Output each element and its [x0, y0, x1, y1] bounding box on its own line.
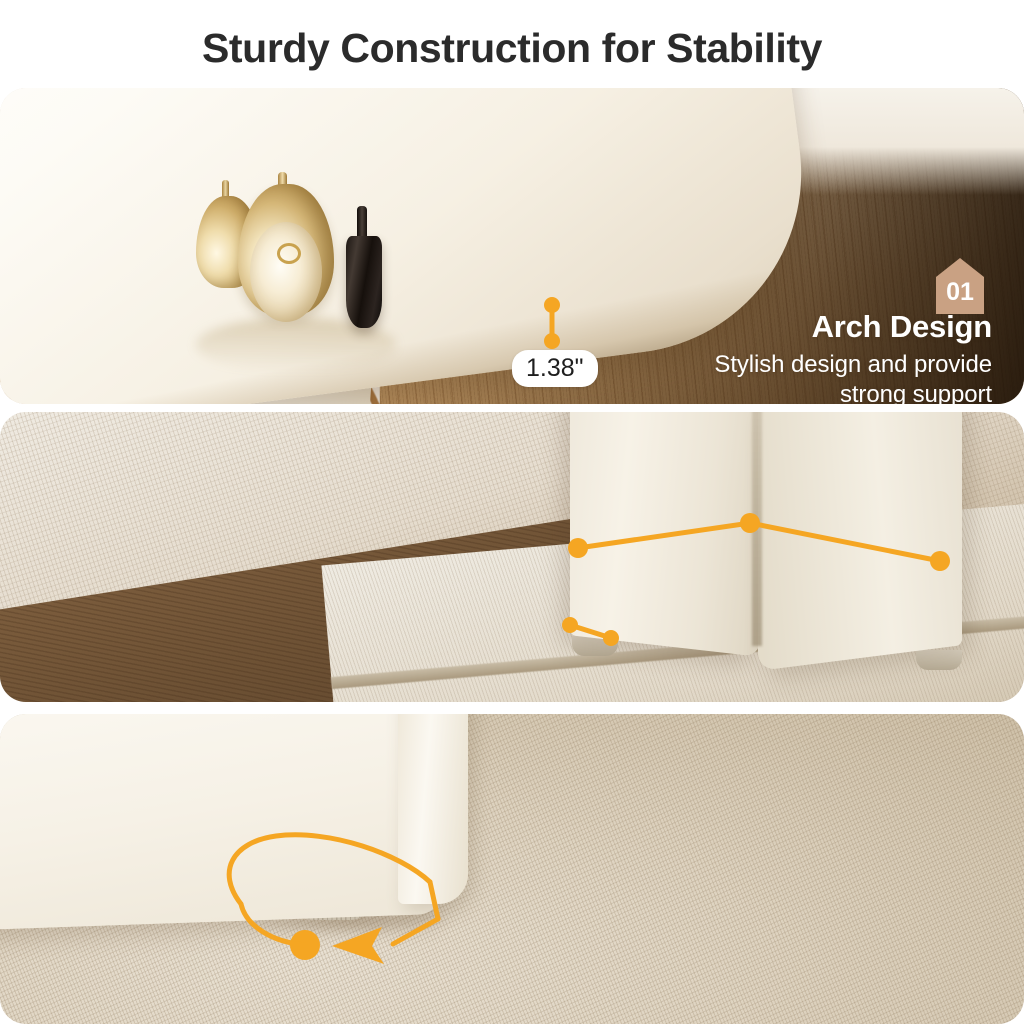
page-title: Sturdy Construction for Stability: [0, 27, 1024, 70]
badge-01-number: 01: [946, 280, 974, 314]
gold-ring-detail: [277, 243, 301, 264]
feature-panel-arch-design-01: 1.38" 01 Arch Design Stylish design and …: [0, 88, 1024, 404]
feature-panel-arch-design-03: 03 Arch Design Stylish design and provid…: [0, 714, 1024, 1024]
cream-vase-c: [250, 222, 322, 322]
pedestal-panel-left: [570, 412, 760, 657]
panel-3-scene-image: [0, 714, 1024, 1024]
panel-2-scene-image: [0, 412, 1024, 702]
dimension-label-thickness: 1.38": [512, 350, 598, 387]
pedestal-center-seam: [752, 412, 762, 646]
feature-description-01: Stylish design and provide strong suppor…: [612, 350, 992, 404]
pedestal-foot-right: [916, 650, 962, 670]
feature-heading-01: Arch Design: [612, 310, 992, 344]
cream-table-base-panel: [0, 714, 444, 930]
feature-text-01: Arch Design Stylish design and provide s…: [612, 310, 992, 404]
cream-table-base-post: [398, 714, 468, 904]
dark-glass-bottle: [346, 236, 382, 328]
feature-panel-fillet-polishing-02: 7.09" 7.09" 0.98" 02 Fillet Polishing En…: [0, 412, 1024, 702]
pedestal-panel-right: [758, 412, 962, 671]
